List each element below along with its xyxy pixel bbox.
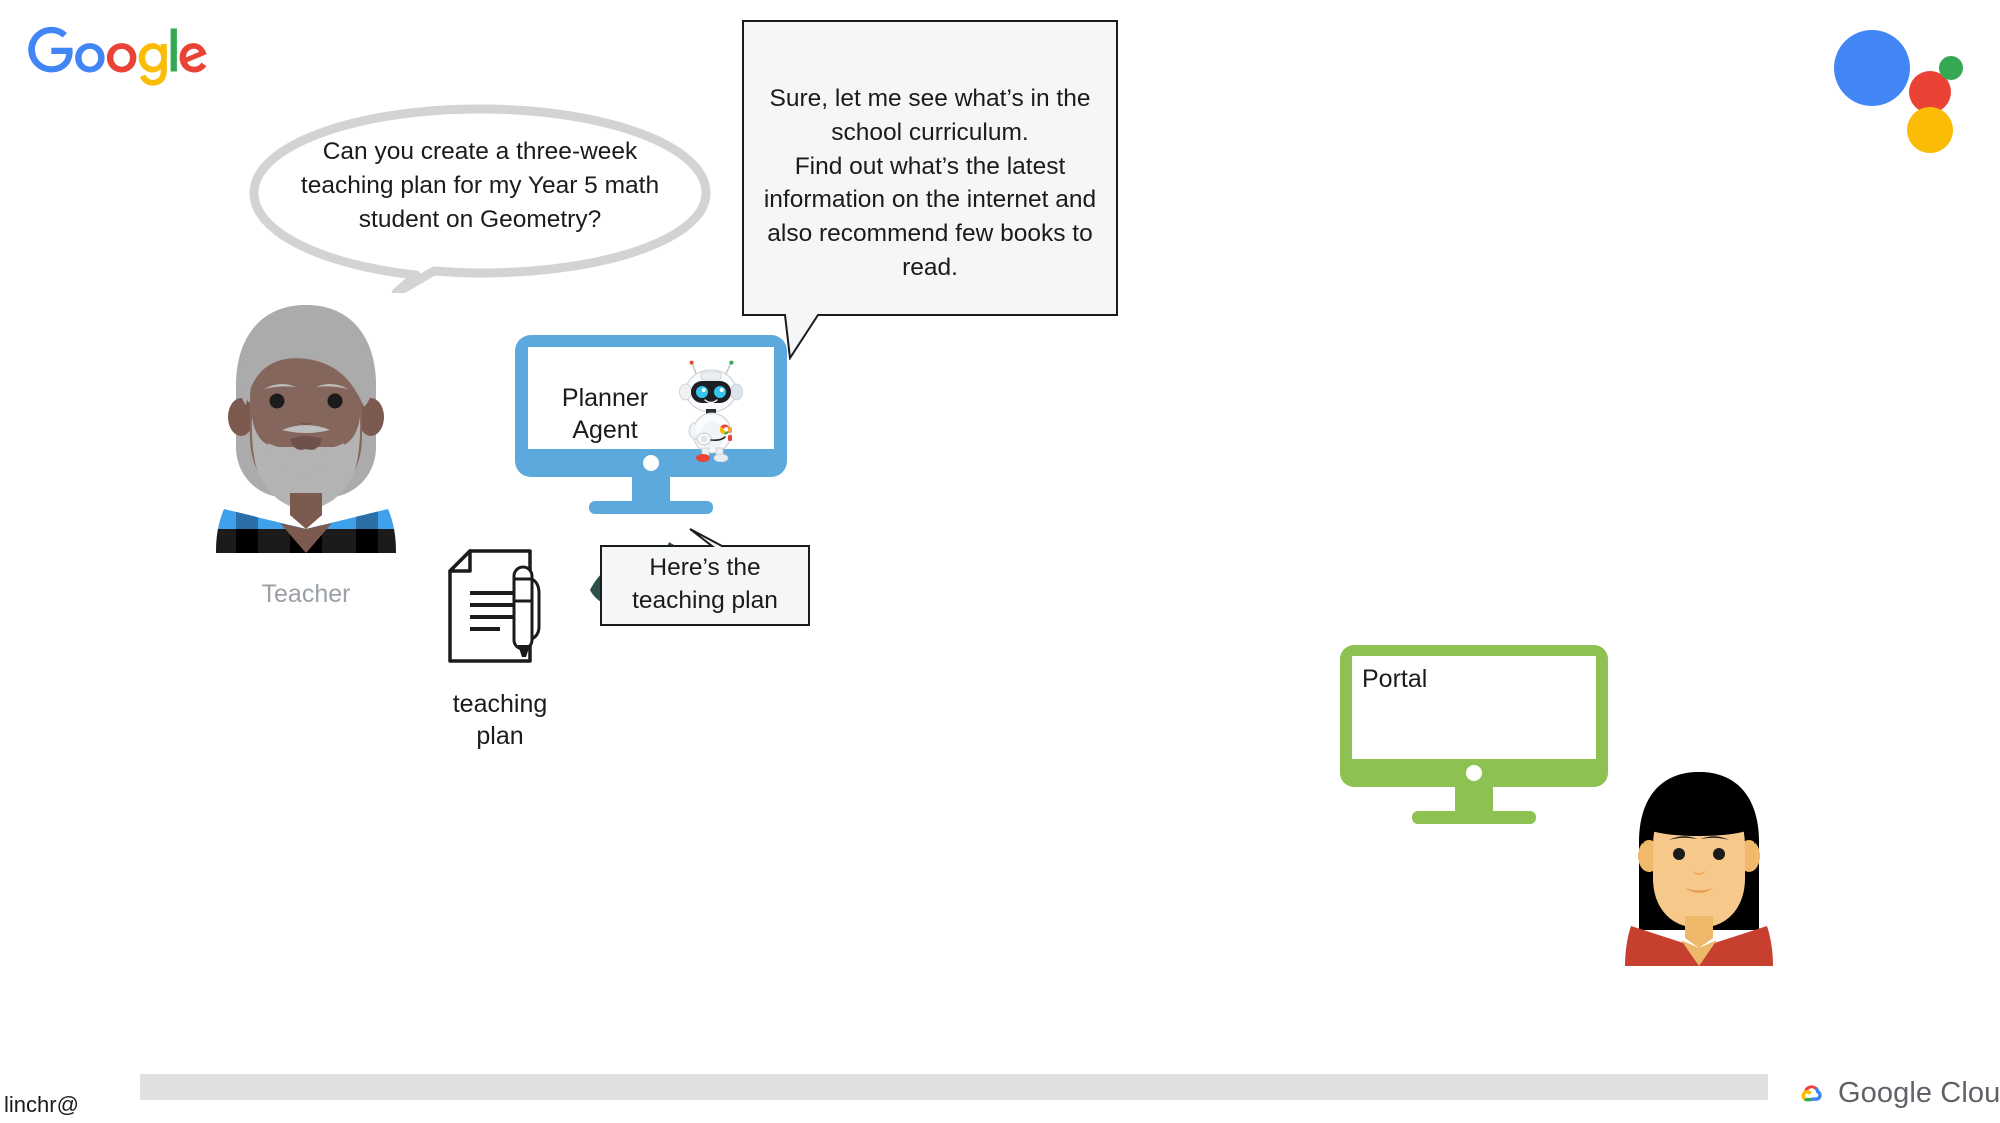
robot-agent-icon: [678, 360, 744, 462]
plan-delivery-bubble: Here’s the teaching plan: [600, 528, 810, 626]
footer-progress-bar: [140, 1074, 1768, 1100]
google-cloud-logo: Google Cloud: [1790, 1076, 1990, 1116]
footer-user-handle: linchr@: [4, 1092, 79, 1118]
teacher-speech-bubble: Can you create a three-week teaching pla…: [246, 103, 714, 293]
teacher-bubble-text: Can you create a three-week teaching pla…: [298, 135, 662, 236]
google-logo: [28, 26, 208, 88]
student-avatar: [1625, 768, 1773, 968]
google-assistant-icon: [1820, 18, 1990, 168]
google-cloud-wordmark: Google Cloud: [1838, 1077, 2000, 1110]
teacher-avatar: [216, 297, 396, 557]
google-cloud-name-bold: Google: [1838, 1077, 1932, 1109]
planner-agent-title: Planner Agent: [545, 382, 665, 446]
teacher-label: Teacher: [196, 580, 416, 609]
plan-delivery-text: Here’s the teaching plan: [610, 552, 800, 618]
slide-canvas: Can you create a three-week teaching pla…: [0, 0, 2000, 1123]
portal-title: Portal: [1362, 665, 1427, 694]
google-cloud-name-light: Cloud: [1932, 1077, 2000, 1109]
agent-speech-bubble: Sure, let me see what’s in the school cu…: [742, 20, 1118, 360]
teaching-plan-label: teaching plan: [420, 688, 580, 752]
document-with-pen-icon: [448, 549, 552, 663]
agent-bubble-text: Sure, let me see what’s in the school cu…: [762, 82, 1098, 285]
